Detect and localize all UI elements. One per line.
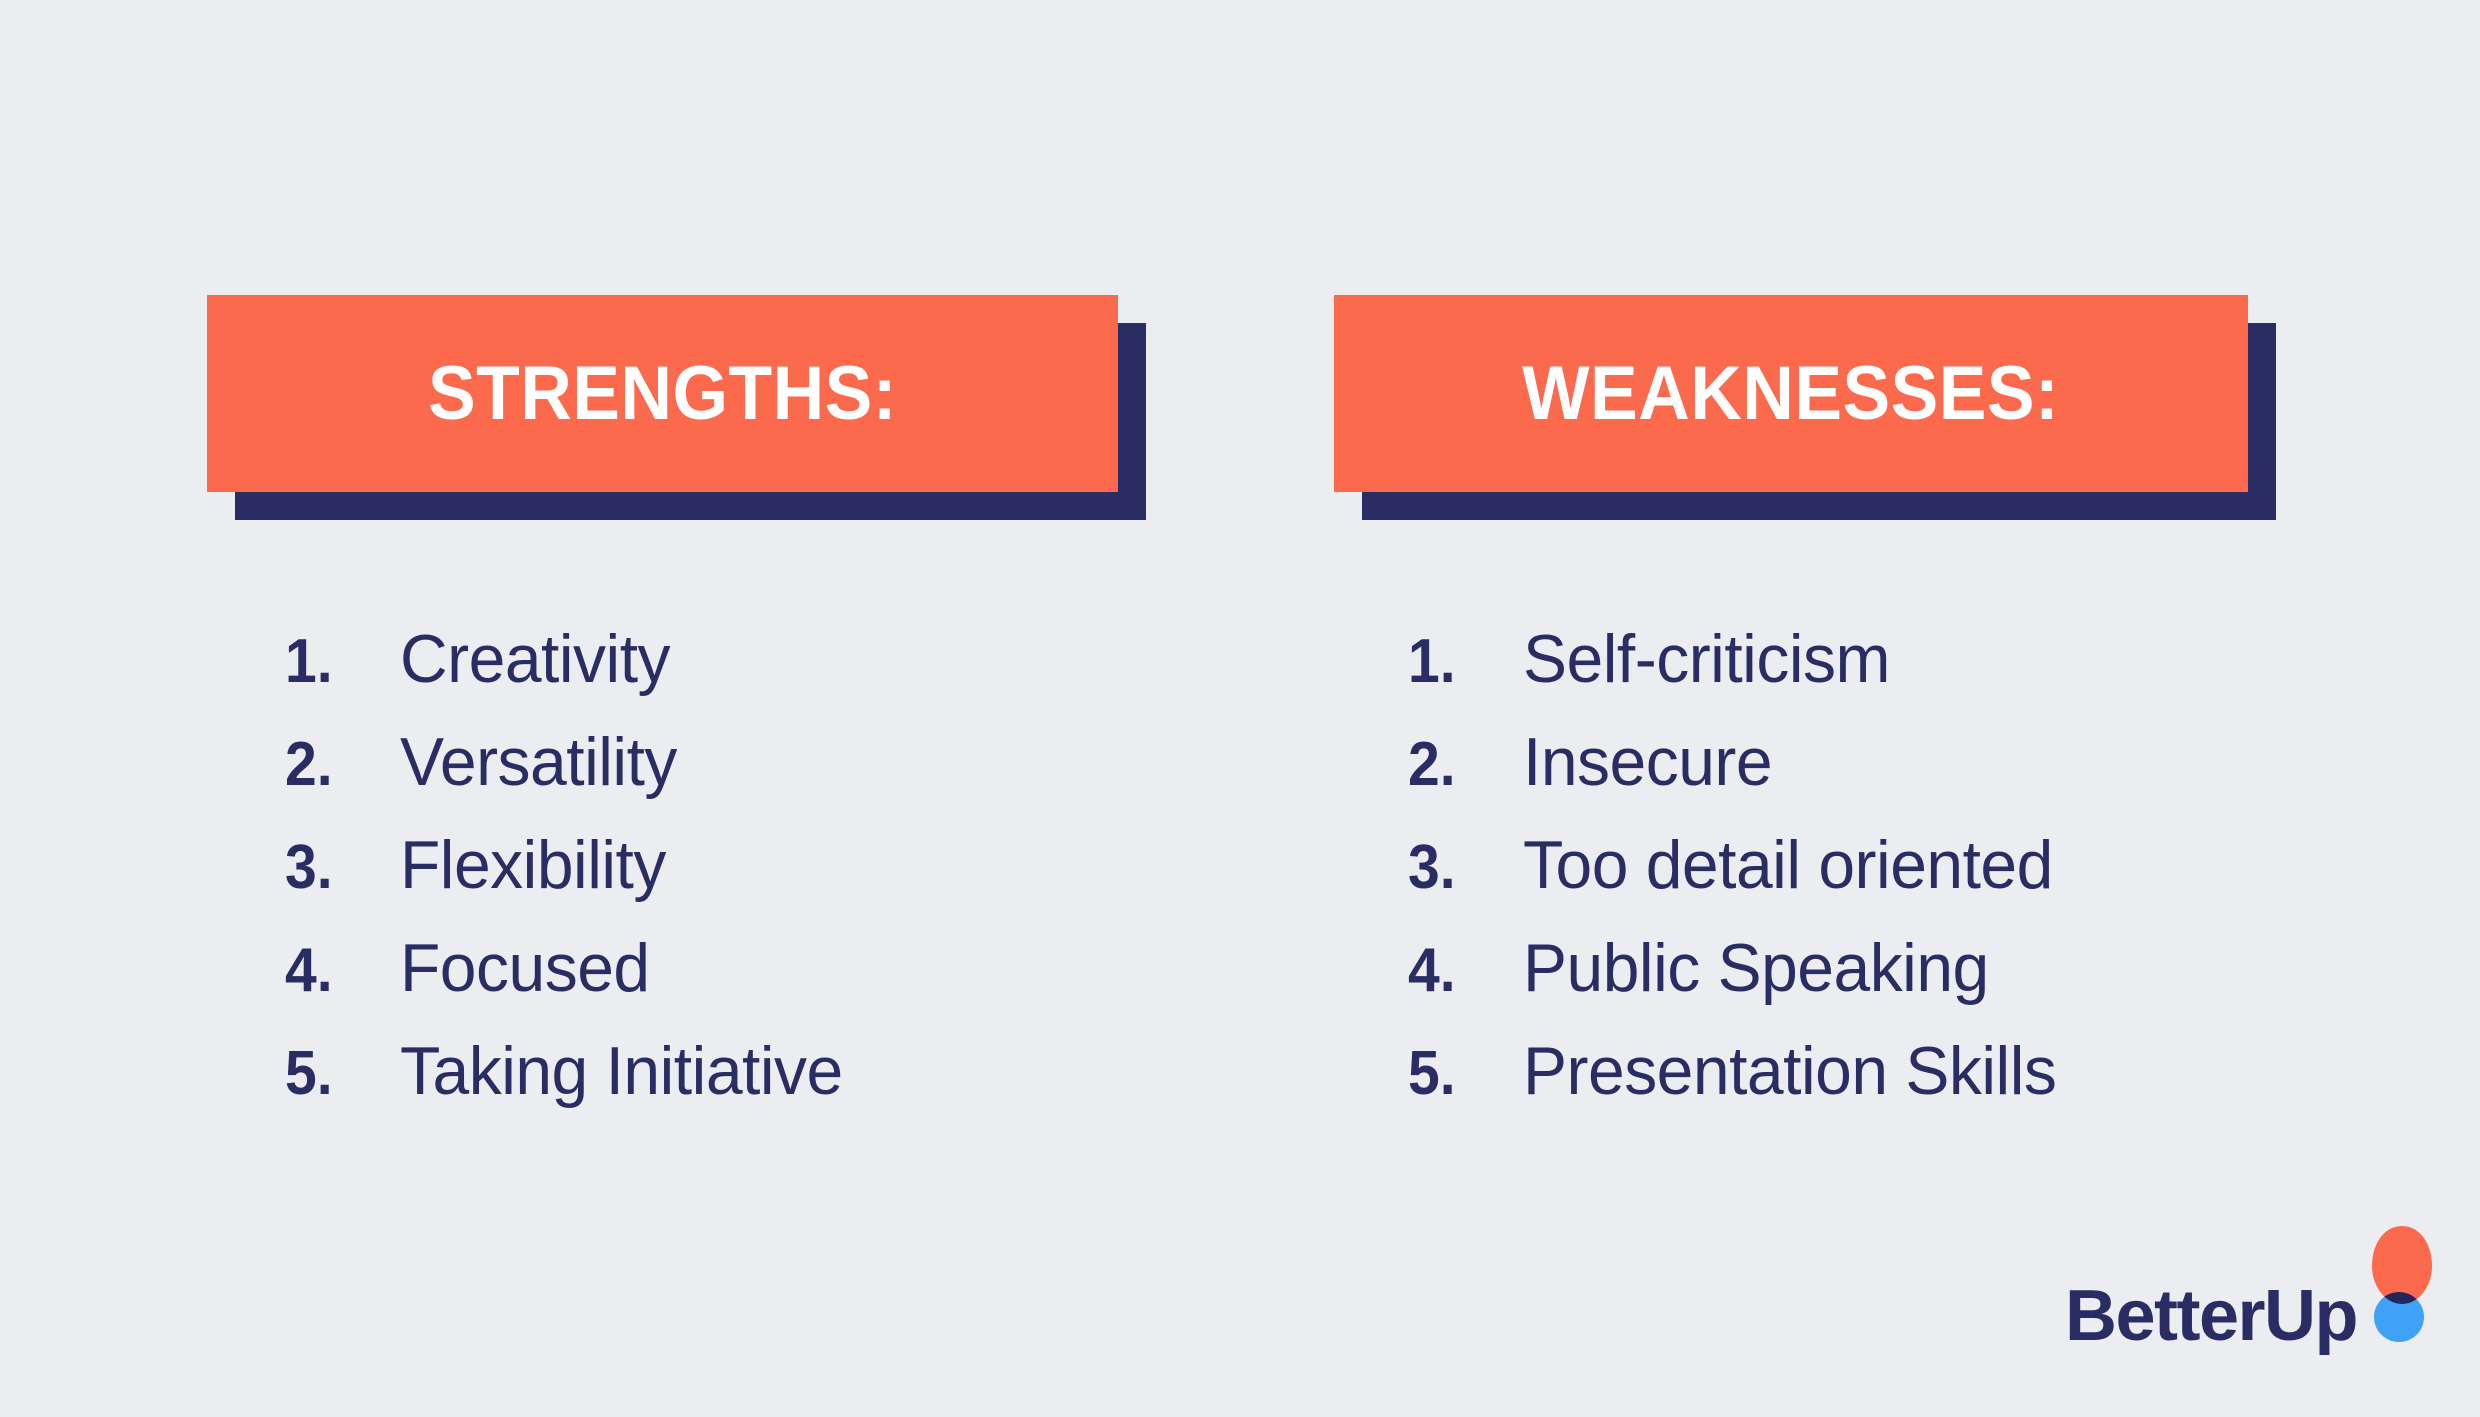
list-item-number: 5. bbox=[1408, 1043, 1514, 1105]
list-item-label: Insecure bbox=[1523, 728, 1772, 796]
list-item: 5. Taking Initiative bbox=[285, 1037, 856, 1140]
list-item: 4. Focused bbox=[285, 934, 856, 1037]
weaknesses-list: 1. Self-criticism 2. Insecure 3. Too det… bbox=[1408, 625, 2073, 1140]
strengths-heading: STRENGTHS: bbox=[428, 356, 897, 432]
list-item: 5. Presentation Skills bbox=[1408, 1037, 2073, 1140]
list-item: 3. Too detail oriented bbox=[1408, 831, 2073, 934]
list-item-number: 3. bbox=[1408, 837, 1514, 899]
list-item: 3. Flexibility bbox=[285, 831, 856, 934]
list-item-number: 4. bbox=[1408, 940, 1514, 1002]
strengths-banner: STRENGTHS: bbox=[207, 295, 1118, 492]
strengths-column: STRENGTHS: 1. Creativity 2. Versatility … bbox=[207, 295, 1118, 492]
strengths-list: 1. Creativity 2. Versatility 3. Flexibil… bbox=[285, 625, 856, 1140]
list-item-label: Flexibility bbox=[400, 831, 666, 899]
weaknesses-banner: WEAKNESSES: bbox=[1334, 295, 2248, 492]
list-item-number: 1. bbox=[285, 631, 391, 693]
betterup-wordmark: BetterUp bbox=[2065, 1280, 2357, 1352]
list-item-number: 3. bbox=[285, 837, 391, 899]
list-item-label: Self-criticism bbox=[1523, 625, 1890, 693]
weaknesses-column: WEAKNESSES: 1. Self-criticism 2. Insecur… bbox=[1334, 295, 2248, 492]
list-item-label: Taking Initiative bbox=[400, 1037, 843, 1105]
list-item: 1. Self-criticism bbox=[1408, 625, 2073, 728]
strengths-banner-face: STRENGTHS: bbox=[207, 295, 1118, 492]
list-item: 1. Creativity bbox=[285, 625, 856, 728]
list-item-label: Presentation Skills bbox=[1523, 1037, 2056, 1105]
list-item-label: Public Speaking bbox=[1523, 934, 1989, 1002]
list-item-number: 4. bbox=[285, 940, 391, 1002]
list-item-label: Versatility bbox=[400, 728, 677, 796]
list-item: 2. Insecure bbox=[1408, 728, 2073, 831]
list-item-number: 5. bbox=[285, 1043, 391, 1105]
list-item-label: Too detail oriented bbox=[1523, 831, 2053, 899]
list-item-label: Focused bbox=[400, 934, 650, 1002]
list-item-number: 2. bbox=[285, 734, 391, 796]
list-item: 2. Versatility bbox=[285, 728, 856, 831]
list-item-number: 1. bbox=[1408, 631, 1514, 693]
list-item-label: Creativity bbox=[400, 625, 670, 693]
weaknesses-banner-face: WEAKNESSES: bbox=[1334, 295, 2248, 492]
list-item: 4. Public Speaking bbox=[1408, 934, 2073, 1037]
betterup-balloon-mark-icon bbox=[2369, 1222, 2435, 1346]
list-item-number: 2. bbox=[1408, 734, 1514, 796]
betterup-logo: BetterUp bbox=[2065, 1222, 2435, 1352]
weaknesses-heading: WEAKNESSES: bbox=[1522, 356, 2059, 432]
slide-canvas: STRENGTHS: 1. Creativity 2. Versatility … bbox=[0, 0, 2480, 1417]
